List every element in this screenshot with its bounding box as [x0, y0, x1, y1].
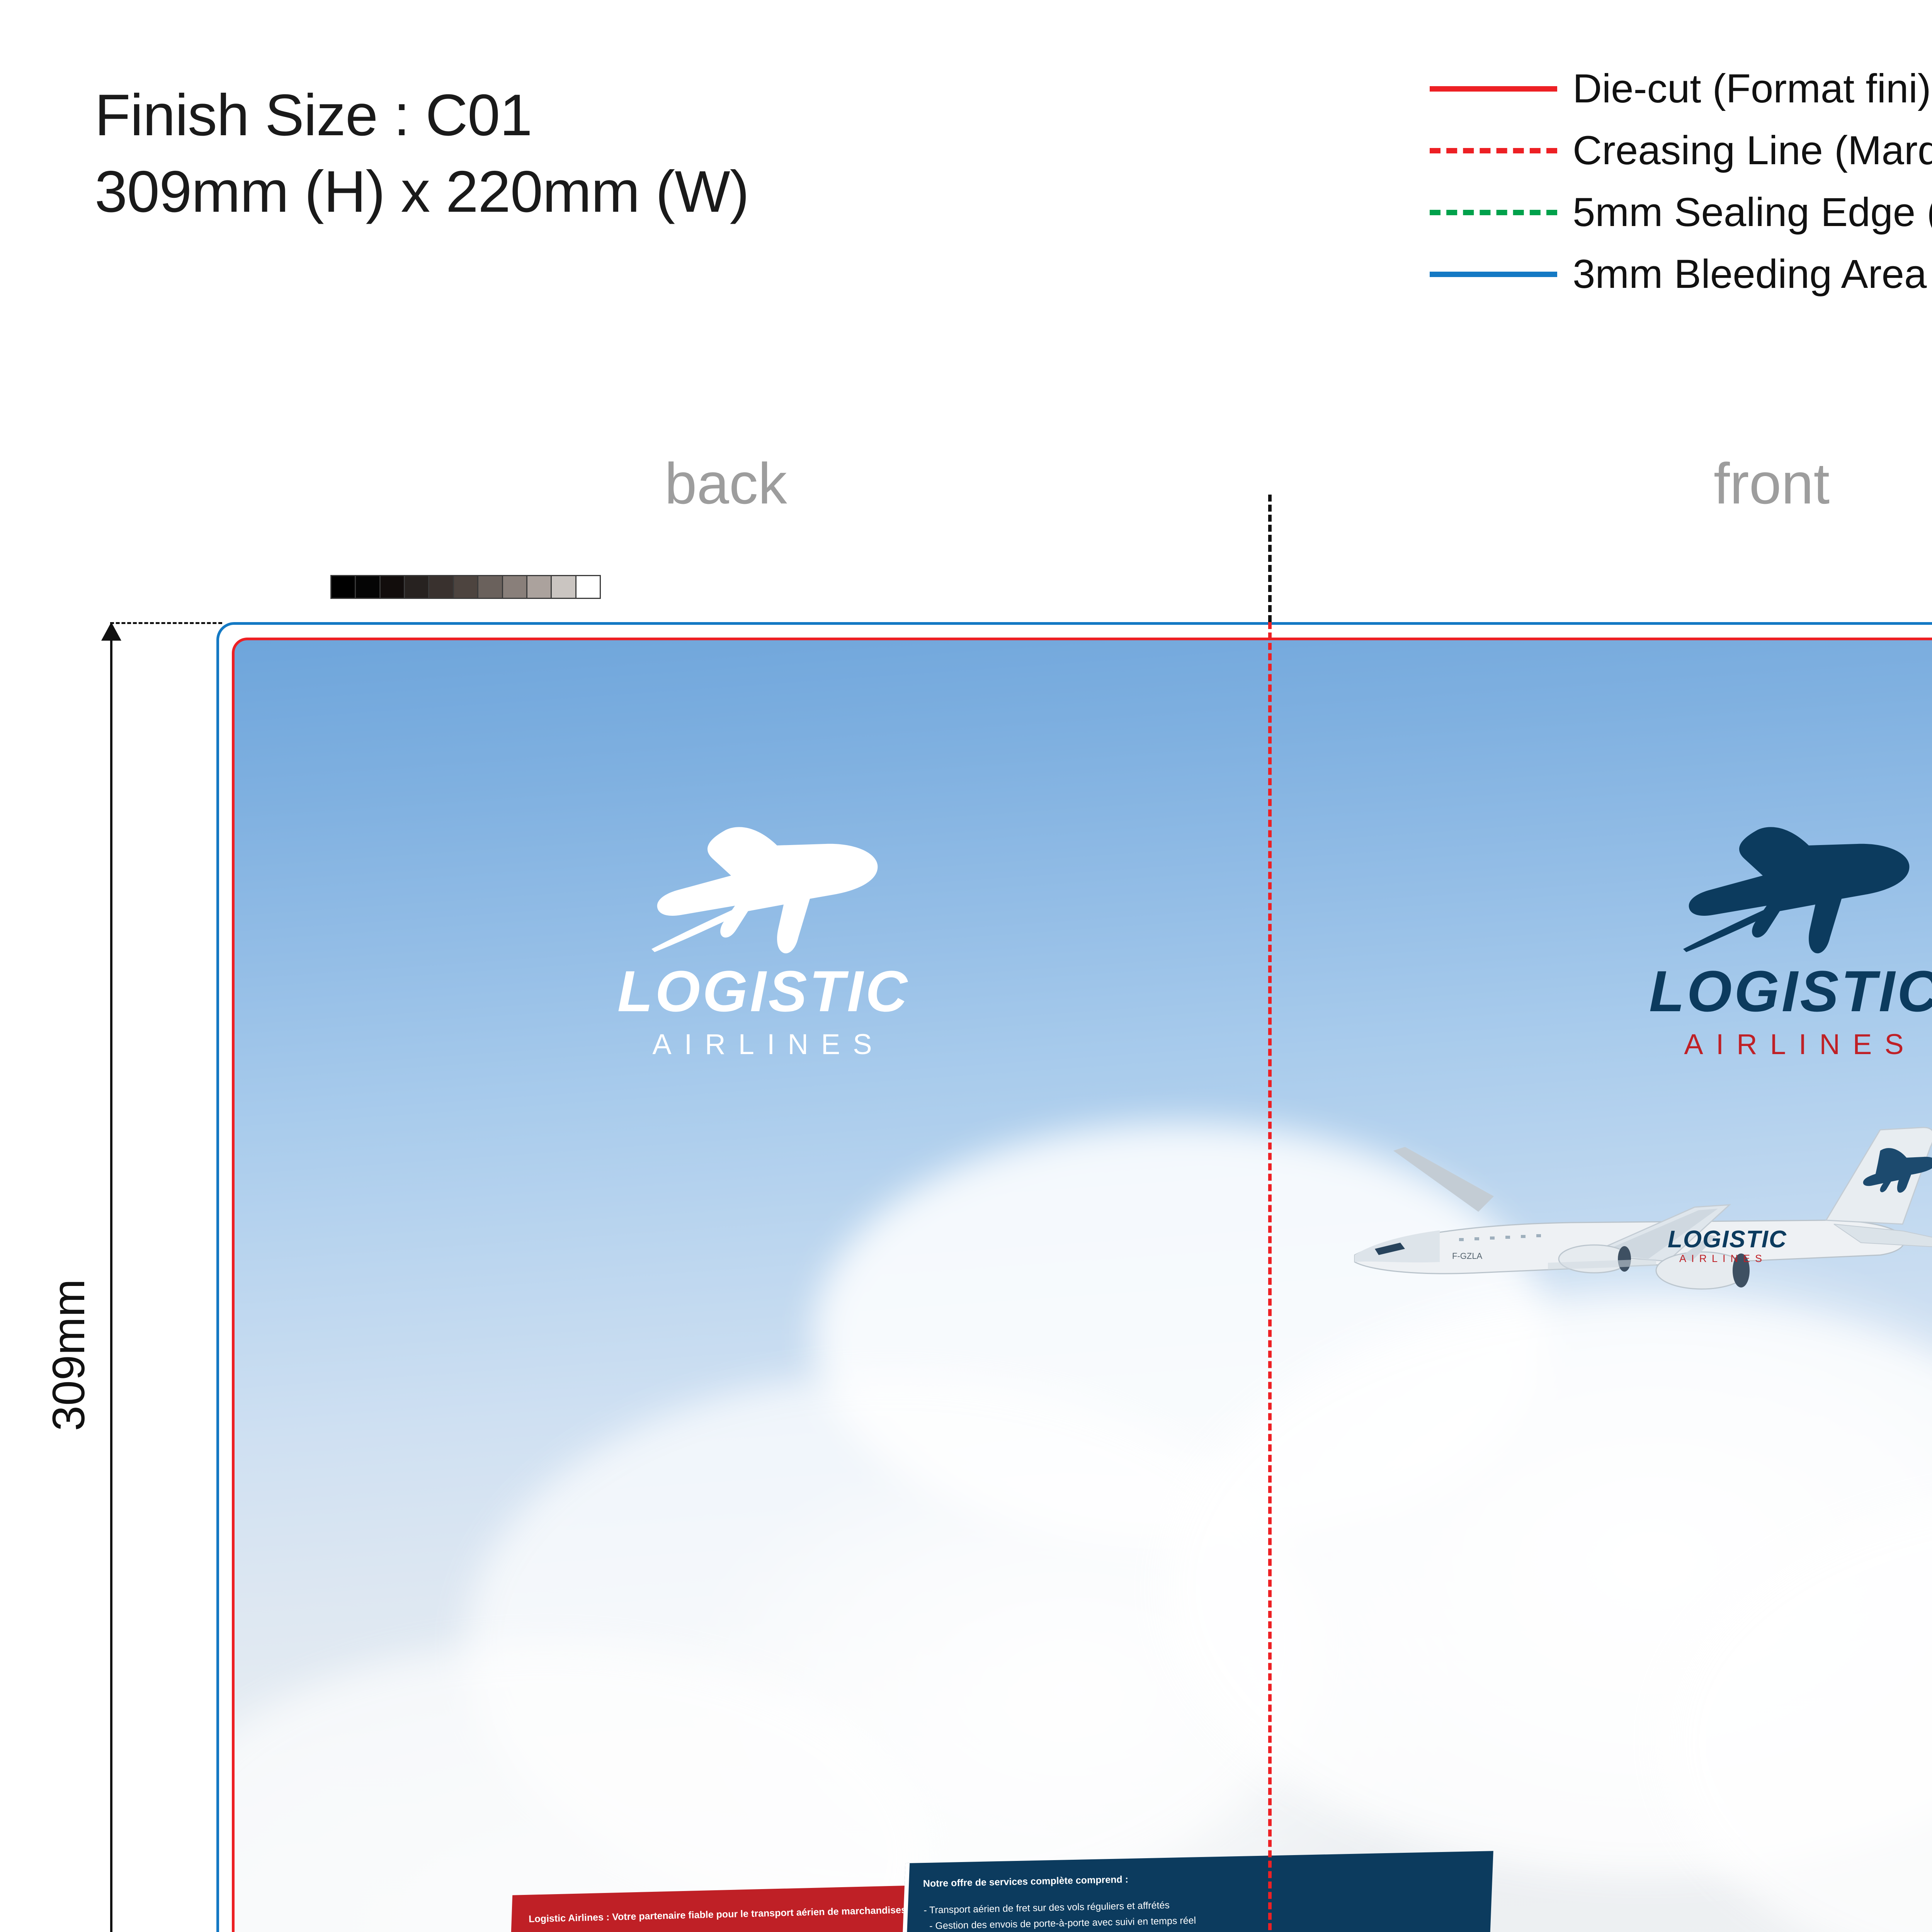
title-line-2: 309mm (H) x 220mm (W)	[95, 154, 1331, 230]
grayscale-color-bar	[330, 575, 601, 599]
dim-309-label: 309mm	[43, 1279, 95, 1431]
dim-309-arrow-top	[101, 622, 121, 641]
legend-label-bleeding: 3mm Bleeding Area (zone de fond perdu)	[1573, 251, 1932, 298]
page-title: Finish Size : C01 309mm (H) x 220mm (W)	[95, 77, 1331, 230]
legend-item-sealing: 5mm Sealing Edge (bord de fermeture herm…	[1430, 182, 1932, 243]
title-line-1: Finish Size : C01	[95, 77, 1331, 154]
legend-item-creasing: Creasing Line (Marque de pliage)	[1430, 120, 1932, 182]
creasing-line-extension-top	[1268, 495, 1272, 622]
legend-swatch-sealing	[1430, 210, 1557, 215]
legend-label-creasing: Creasing Line (Marque de pliage)	[1573, 128, 1932, 174]
legend-swatch-die-cut	[1430, 86, 1557, 92]
legend-label-die-cut: Die-cut (Format fini)	[1573, 66, 1931, 112]
legend-item-bleeding: 3mm Bleeding Area (zone de fond perdu)	[1430, 243, 1932, 305]
artwork-stage: LOGISTIC AIRLINES LOGISTIC AIRLINES	[216, 622, 1932, 1932]
dim-309-line	[110, 622, 112, 1932]
legend-swatch-bleeding	[1430, 272, 1557, 277]
legend-label-sealing: 5mm Sealing Edge (bord de fermeture herm…	[1573, 189, 1932, 236]
creasing-line	[1268, 622, 1272, 1932]
legend-item-die-cut: Die-cut (Format fini)	[1430, 58, 1932, 120]
die-cut-outline	[232, 638, 1932, 1932]
caption-back: back	[665, 450, 787, 517]
legend-swatch-creasing	[1430, 148, 1557, 153]
dim-309-extension-top	[110, 622, 222, 624]
caption-front: front	[1714, 450, 1830, 517]
legend: Die-cut (Format fini) Creasing Line (Mar…	[1430, 58, 1932, 305]
